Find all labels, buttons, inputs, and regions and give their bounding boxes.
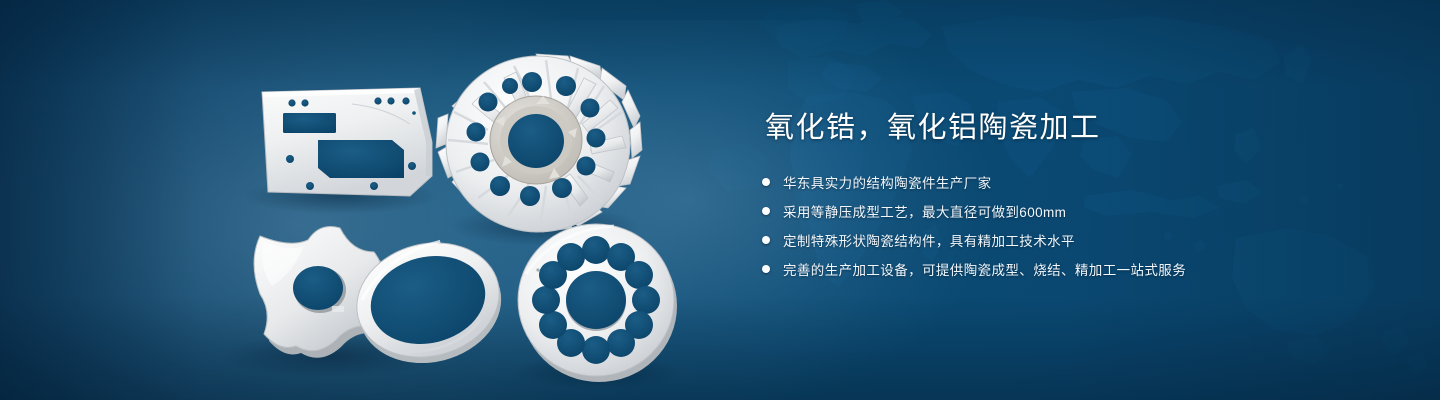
dot-icon <box>762 207 770 215</box>
dot-icon <box>762 265 770 273</box>
ceramic-impeller <box>436 54 642 232</box>
list-item: 定制特殊形状陶瓷结构件，具有精加工技术水平 <box>762 230 1362 250</box>
list-item-label: 采用等静压成型工艺，最大直径可做到600mm <box>783 201 1066 221</box>
list-item: 完善的生产加工设备，可提供陶瓷成型、烧结、精加工一站式服务 <box>762 259 1362 279</box>
list-item: 采用等静压成型工艺，最大直径可做到600mm <box>762 201 1362 221</box>
page-title: 氧化锆，氧化铝陶瓷加工 <box>765 104 1362 146</box>
list-item-label: 定制特殊形状陶瓷结构件，具有精加工技术水平 <box>783 230 1075 250</box>
hero-banner: 氧化锆，氧化铝陶瓷加工 华东具实力的结构陶瓷件生产厂家 采用等静压成型工艺，最大… <box>0 0 1440 400</box>
list-item-label: 华东具实力的结构陶瓷件生产厂家 <box>783 172 992 192</box>
dot-icon <box>762 178 770 186</box>
list-item-label: 完善的生产加工设备，可提供陶瓷成型、烧结、精加工一站式服务 <box>783 259 1186 279</box>
list-item: 华东具实力的结构陶瓷件生产厂家 <box>762 172 1362 192</box>
ceramic-plate <box>262 88 432 196</box>
dot-icon <box>762 236 770 244</box>
banner-copy: 氧化锆，氧化铝陶瓷加工 华东具实力的结构陶瓷件生产厂家 采用等静压成型工艺，最大… <box>762 104 1362 288</box>
ceramic-products-illustration <box>0 0 720 400</box>
feature-list: 华东具实力的结构陶瓷件生产厂家 采用等静压成型工艺，最大直径可做到600mm 定… <box>762 172 1362 279</box>
